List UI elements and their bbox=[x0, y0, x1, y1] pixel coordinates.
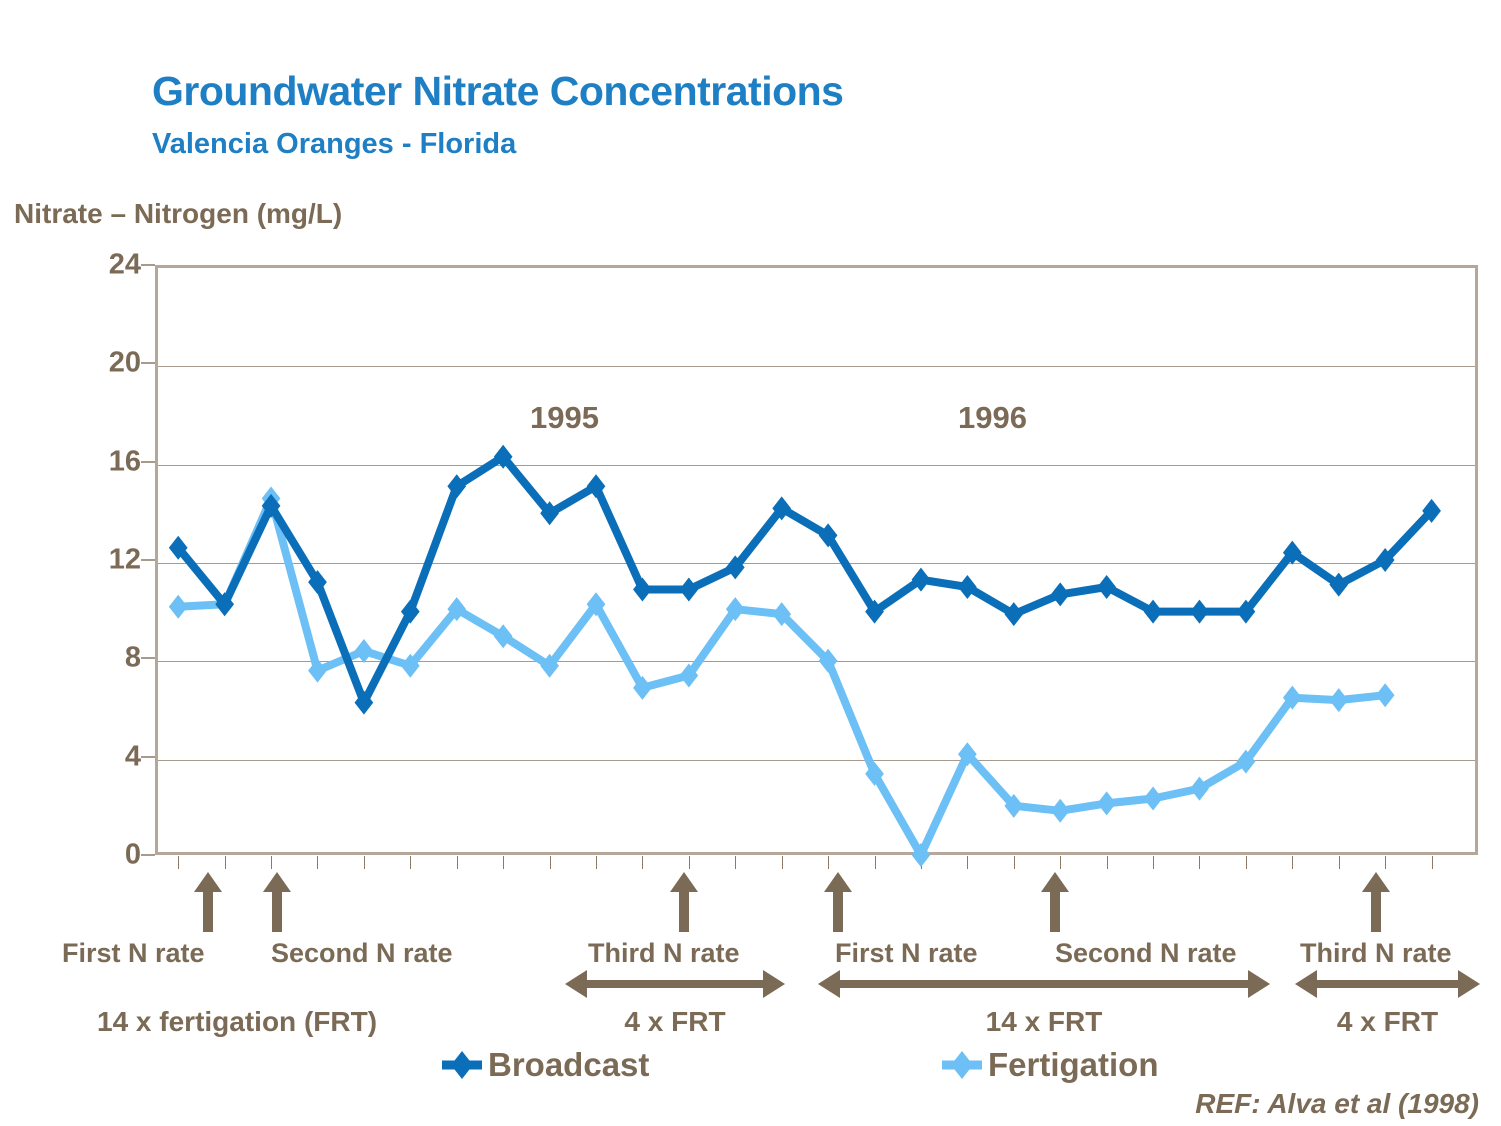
up-arrow-icon bbox=[1362, 872, 1390, 932]
frt-span-label: 14 x FRT bbox=[818, 1006, 1270, 1038]
frt-span-arrow-icon bbox=[565, 970, 785, 998]
arrow-shaft bbox=[679, 888, 689, 932]
frt-span-label: 4 x FRT bbox=[1295, 1006, 1480, 1038]
n-rate-label: Second N rate bbox=[271, 938, 453, 969]
arrow-head bbox=[670, 872, 698, 892]
y-axis-tick-mark bbox=[141, 756, 155, 758]
x-axis-tick-mark bbox=[735, 856, 736, 869]
span-arrow-head bbox=[763, 970, 785, 998]
frt-span-arrow-icon bbox=[818, 970, 1270, 998]
arrow-shaft bbox=[272, 888, 282, 932]
n-rate-label: Second N rate bbox=[1055, 938, 1237, 969]
span-arrow-head bbox=[1295, 970, 1317, 998]
x-axis-tick-mark bbox=[596, 856, 597, 869]
x-axis-tick-mark bbox=[1432, 856, 1433, 869]
up-arrow-icon bbox=[670, 872, 698, 932]
x-axis-tick-mark bbox=[1107, 856, 1108, 869]
gridline bbox=[158, 366, 1475, 367]
page-subtitle: Valencia Oranges - Florida bbox=[152, 128, 516, 161]
y-axis-tick-label: 24 bbox=[81, 249, 141, 282]
span-arrow-head bbox=[1248, 970, 1270, 998]
x-axis-tick-mark bbox=[364, 856, 365, 869]
span-line bbox=[581, 980, 769, 988]
legend-label-broadcast: Broadcast bbox=[488, 1046, 649, 1084]
x-axis-tick-mark bbox=[225, 856, 226, 869]
chart-legend: Broadcast Fertigation bbox=[440, 1044, 1240, 1090]
n-rate-label: First N rate bbox=[835, 938, 978, 969]
chart-canvas: Groundwater Nitrate Concentrations Valen… bbox=[0, 0, 1501, 1126]
page-title: Groundwater Nitrate Concentrations bbox=[152, 68, 843, 115]
fertigation-note-label: 14 x fertigation (FRT) bbox=[97, 1006, 377, 1038]
span-line bbox=[1311, 980, 1464, 988]
x-axis-tick-mark bbox=[1339, 856, 1340, 869]
up-arrow-icon bbox=[1041, 872, 1069, 932]
legend-item-broadcast[interactable]: Broadcast bbox=[440, 1046, 649, 1084]
x-axis-tick-mark bbox=[1292, 856, 1293, 869]
arrow-head bbox=[263, 872, 291, 892]
frt-span-arrow-icon bbox=[1295, 970, 1480, 998]
x-axis-tick-mark bbox=[1199, 856, 1200, 869]
x-axis-tick-mark bbox=[178, 856, 179, 869]
x-axis-tick-mark bbox=[550, 856, 551, 869]
up-arrow-icon bbox=[824, 872, 852, 932]
y-axis-tick-label: 8 bbox=[81, 642, 141, 675]
n-rate-label: Third N rate bbox=[588, 938, 740, 969]
y-axis-tick-label: 20 bbox=[81, 347, 141, 380]
arrow-head bbox=[1362, 872, 1390, 892]
x-axis-tick-mark bbox=[1385, 856, 1386, 869]
x-axis-tick-mark bbox=[642, 856, 643, 869]
y-axis-tick-mark bbox=[141, 559, 155, 561]
y-axis-tick-label: 12 bbox=[81, 544, 141, 577]
y-axis-tick-mark bbox=[141, 854, 155, 856]
x-axis-tick-mark bbox=[271, 856, 272, 869]
x-axis-tick-mark bbox=[782, 856, 783, 869]
x-axis-tick-mark bbox=[1060, 856, 1061, 869]
arrow-shaft bbox=[1050, 888, 1060, 932]
year-label-1995: 1995 bbox=[530, 400, 599, 436]
span-arrow-head bbox=[818, 970, 840, 998]
arrow-shaft bbox=[1371, 888, 1381, 932]
diamond-icon bbox=[940, 1048, 984, 1082]
x-axis-tick-mark bbox=[689, 856, 690, 869]
gridline bbox=[158, 465, 1475, 466]
x-axis-tick-mark bbox=[317, 856, 318, 869]
up-arrow-icon bbox=[263, 872, 291, 932]
diamond-icon bbox=[440, 1048, 484, 1082]
y-axis-tick-label: 16 bbox=[81, 445, 141, 478]
y-axis-tick-label: 4 bbox=[81, 740, 141, 773]
span-arrow-head bbox=[1458, 970, 1480, 998]
arrow-head bbox=[824, 872, 852, 892]
gridline bbox=[158, 563, 1475, 564]
arrow-shaft bbox=[203, 888, 213, 932]
frt-span-label: 4 x FRT bbox=[565, 1006, 785, 1038]
n-rate-label: Third N rate bbox=[1300, 938, 1452, 969]
y-axis-tick-mark bbox=[141, 362, 155, 364]
gridline bbox=[158, 760, 1475, 761]
x-axis-tick-mark bbox=[875, 856, 876, 869]
plot-area bbox=[155, 265, 1478, 855]
n-rate-label: First N rate bbox=[62, 938, 205, 969]
x-axis-tick-mark bbox=[1014, 856, 1015, 869]
gridline bbox=[158, 661, 1475, 662]
span-line bbox=[834, 980, 1254, 988]
y-axis-tick-mark bbox=[141, 657, 155, 659]
x-axis-tick-mark bbox=[1246, 856, 1247, 869]
reference-citation: REF: Alva et al (1998) bbox=[1195, 1088, 1479, 1120]
y-axis-tick-mark bbox=[141, 461, 155, 463]
x-axis-tick-mark bbox=[828, 856, 829, 869]
x-axis-tick-mark bbox=[410, 856, 411, 869]
y-axis-tick-mark bbox=[141, 264, 155, 266]
y-axis-tick-label: 0 bbox=[81, 839, 141, 872]
x-axis-tick-mark bbox=[457, 856, 458, 869]
arrow-head bbox=[1041, 872, 1069, 892]
year-label-1996: 1996 bbox=[958, 400, 1027, 436]
x-axis-tick-mark bbox=[1153, 856, 1154, 869]
arrow-head bbox=[194, 872, 222, 892]
up-arrow-icon bbox=[194, 872, 222, 932]
arrow-shaft bbox=[833, 888, 843, 932]
x-axis-tick-mark bbox=[967, 856, 968, 869]
legend-item-fertigation[interactable]: Fertigation bbox=[940, 1046, 1159, 1084]
span-arrow-head bbox=[565, 970, 587, 998]
x-axis-tick-mark bbox=[921, 856, 922, 869]
x-axis-tick-mark bbox=[503, 856, 504, 869]
y-axis-title: Nitrate – Nitrogen (mg/L) bbox=[14, 198, 342, 230]
legend-label-fertigation: Fertigation bbox=[988, 1046, 1159, 1084]
